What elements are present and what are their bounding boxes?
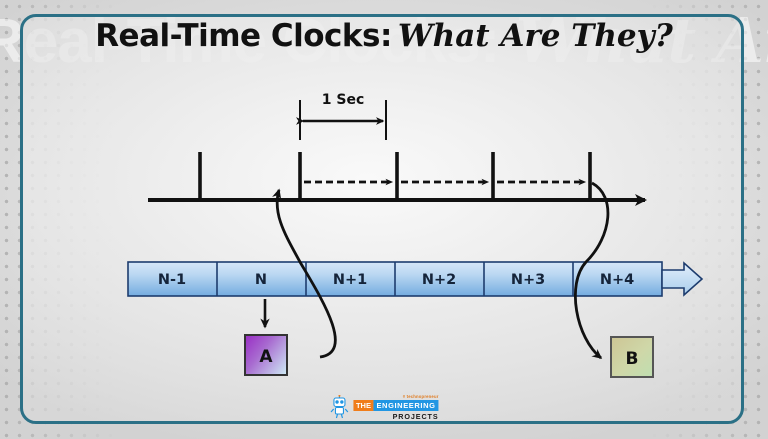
- counter-bar-end-arrow: [662, 263, 702, 295]
- counter-cell-label: N+3: [511, 272, 545, 288]
- brand-word-engineering: ENGINEERING: [373, 400, 438, 411]
- brand-logo-text: # technopreneur THE ENGINEERING PROJECTS: [353, 395, 438, 420]
- one-second-label: 1 Sec: [322, 92, 365, 108]
- robot-mascot-icon: [329, 395, 349, 419]
- brand-tagline: # technopreneur: [403, 395, 439, 399]
- brand-word-projects: PROJECTS: [393, 413, 439, 420]
- brand-logo[interactable]: # technopreneur THE ENGINEERING PROJECTS: [329, 395, 438, 420]
- counter-bar: N-1 N N+1 N+2 N+3 N+4: [128, 262, 702, 296]
- counter-cell-label: N: [255, 272, 267, 288]
- counter-cell-label: N+4: [600, 272, 634, 288]
- timeline-ticks: [200, 152, 590, 200]
- slide-canvas: Real-Time Clocks: What Are They? Real-Ti…: [0, 0, 768, 439]
- counter-cell-label: N+1: [333, 272, 367, 288]
- one-second-measure: 1 Sec: [300, 92, 386, 140]
- event-box-b-label: B: [626, 349, 639, 369]
- event-box-a: A: [245, 335, 287, 375]
- event-box-a-label: A: [259, 347, 273, 367]
- counter-cell-label: N+2: [422, 272, 456, 288]
- rtc-timeline-diagram: 1 Sec: [0, 0, 768, 439]
- event-box-b: B: [611, 337, 653, 377]
- counter-cell-label: N-1: [158, 272, 186, 288]
- brand-word-the: THE: [353, 400, 373, 411]
- brand-main-row: THE ENGINEERING: [353, 400, 438, 411]
